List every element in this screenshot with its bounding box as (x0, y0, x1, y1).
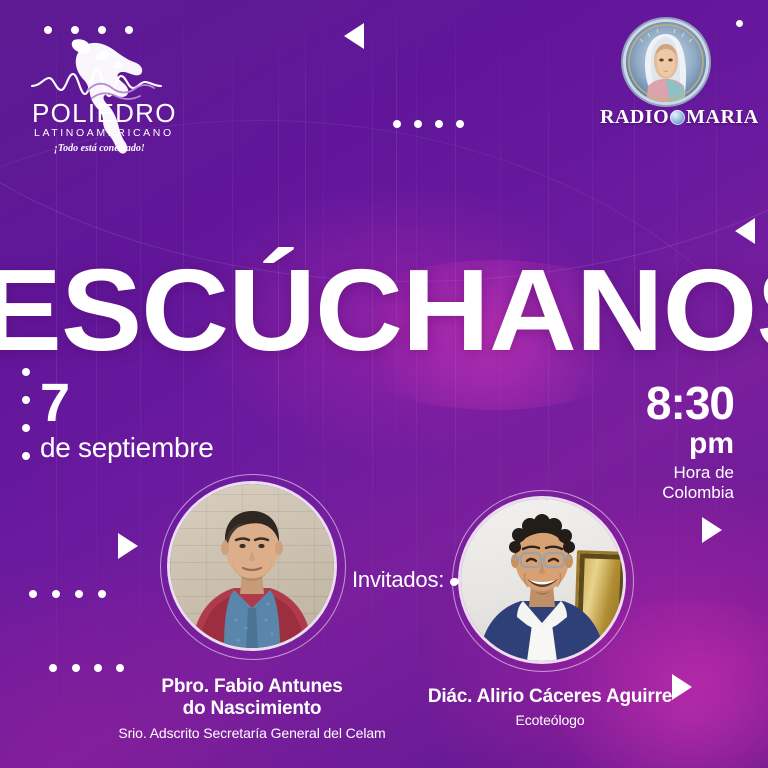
event-date-day: 7 (40, 378, 214, 429)
poliedro-logo[interactable]: POLIEDRO LATINOAMERICANO ¡Todo está cone… (30, 38, 205, 158)
virgin-mary-medallion-icon (626, 22, 706, 102)
globe-icon (670, 110, 685, 125)
dot-icon (49, 664, 57, 672)
event-date-month: de septiembre (40, 433, 214, 464)
guest-1-role: Srio. Adscrito Secretaría General del Ce… (94, 725, 410, 743)
dot-icon (94, 664, 102, 672)
dot-icon (44, 26, 52, 34)
event-time-meridiem: pm (646, 428, 734, 460)
dot-icon (393, 120, 401, 128)
dot-icon (456, 120, 464, 128)
dot-icon (736, 20, 743, 27)
latin-america-map-waveform-icon: POLIEDRO LATINOAMERICANO ¡Todo está cone… (30, 38, 205, 158)
play-triangle-icon (735, 218, 755, 244)
svg-text:POLIEDRO: POLIEDRO (32, 98, 177, 128)
radio-maria-word-1: RADIO (600, 106, 669, 128)
event-time: 8:30 pm Hora de Colombia (646, 382, 734, 502)
page-title: ESCÚCHANOS (0, 252, 768, 368)
dot-icon (98, 590, 106, 598)
guest-caption-1: Pbro. Fabio Antunes do Nascimiento Srio.… (94, 676, 410, 742)
dot-icon (22, 452, 30, 460)
play-triangle-icon (118, 533, 138, 559)
play-triangle-icon (702, 517, 722, 543)
guest-caption-2: Diác. Alirio Cáceres Aguirre Ecoteólogo (400, 686, 700, 730)
guest-1-name-line2: do Nascimiento (94, 698, 410, 720)
dot-icon (71, 26, 79, 34)
dot-icon (125, 26, 133, 34)
radio-maria-logo[interactable]: RADIOMARIA (600, 22, 732, 142)
guests-label: Invitados: (352, 567, 444, 593)
play-triangle-icon (344, 23, 364, 49)
event-date: 7 de septiembre (40, 378, 214, 464)
guest-photo-1[interactable] (170, 484, 334, 648)
dot-icon (116, 664, 124, 672)
svg-text:LATINOAMERICANO: LATINOAMERICANO (34, 127, 174, 139)
promo-poster: POLIEDRO LATINOAMERICANO ¡Todo está cone… (0, 0, 768, 768)
event-time-hour: 8:30 (646, 382, 734, 426)
dot-icon (72, 664, 80, 672)
dot-icon (22, 424, 30, 432)
dot-icon (98, 26, 106, 34)
guest-2-role: Ecoteólogo (400, 712, 700, 730)
event-time-zone-line2: Colombia (646, 483, 734, 503)
dot-icon (29, 590, 37, 598)
radio-maria-word-2: MARIA (686, 106, 759, 128)
portrait-man-glasses-navy-sweater (461, 499, 623, 661)
svg-text:¡Todo está conectado!: ¡Todo está conectado! (54, 143, 145, 154)
guest-2-name-line1: Diác. Alirio Cáceres Aguirre (400, 686, 700, 708)
radio-maria-wordmark: RADIOMARIA (600, 106, 732, 129)
dot-icon (75, 590, 83, 598)
guest-photo-2[interactable] (461, 499, 623, 661)
dot-icon (452, 578, 459, 585)
dot-icon (52, 590, 60, 598)
guest-1-name-line1: Pbro. Fabio Antunes (94, 676, 410, 698)
dot-icon (435, 120, 443, 128)
dot-icon (22, 396, 30, 404)
event-time-zone-line1: Hora de (646, 463, 734, 483)
portrait-man-red-jacket-denim-shirt (170, 484, 334, 648)
dot-icon (414, 120, 422, 128)
